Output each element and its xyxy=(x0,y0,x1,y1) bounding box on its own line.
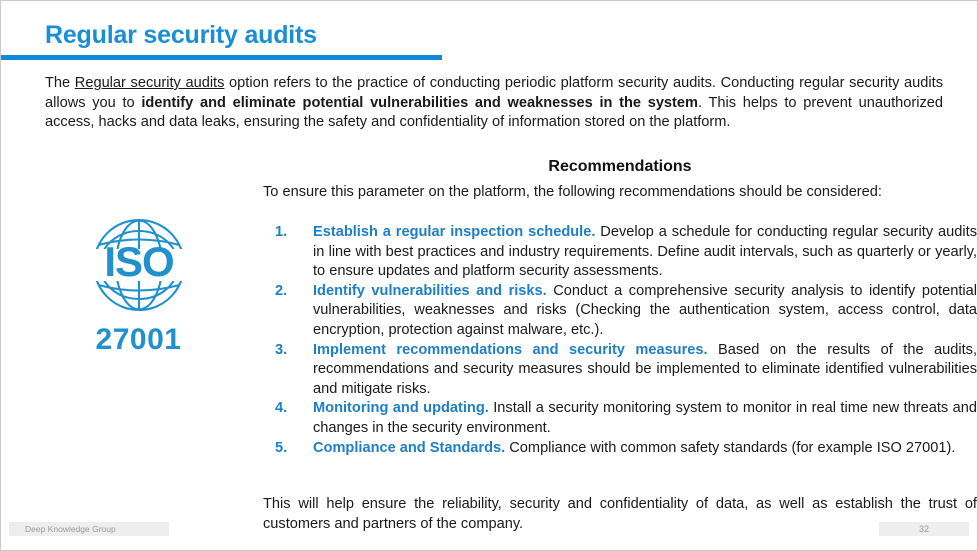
iso-globe-icon: ISO xyxy=(79,213,199,317)
list-item-number: 1. xyxy=(275,223,295,243)
list-item: 2.Identify vulnerabilities and risks. Co… xyxy=(263,282,977,341)
recommendations-intro: To ensure this parameter on the platform… xyxy=(263,183,977,203)
list-item-number: 4. xyxy=(275,399,295,419)
list-item-lead: Implement recommendations and security m… xyxy=(313,342,708,358)
iso-standard-number: 27001 xyxy=(71,323,206,357)
list-item-lead: Compliance and Standards. xyxy=(313,440,505,456)
list-item: 1.Establish a regular inspection schedul… xyxy=(263,223,977,282)
iso-27001-logo: ISO 27001 xyxy=(71,213,206,363)
list-item-lead: Establish a regular inspection schedule. xyxy=(313,224,595,240)
intro-underlined-term: Regular security audits xyxy=(75,75,225,91)
list-item: 5.Compliance and Standards. Compliance w… xyxy=(263,439,977,459)
slide-title-area: Regular security audits xyxy=(1,21,442,61)
intro-lead: The xyxy=(45,75,75,91)
title-underline-rule xyxy=(1,55,442,60)
list-item-number: 2. xyxy=(275,282,295,302)
footer-brand-label: Deep Knowledge Group xyxy=(9,524,116,534)
page-number: 32 xyxy=(919,524,929,534)
list-item: 4.Monitoring and updating. Install a sec… xyxy=(263,399,977,438)
svg-text:ISO: ISO xyxy=(104,238,173,285)
list-item-body: Compliance with common safety standards … xyxy=(505,440,955,456)
recommendations-heading: Recommendations xyxy=(263,158,977,176)
list-item: 3.Implement recommendations and security… xyxy=(263,341,977,400)
recommendations-closing: This will help ensure the reliability, s… xyxy=(263,495,977,534)
intro-bold-phrase: identify and eliminate potential vulnera… xyxy=(141,95,698,111)
intro-paragraph: The Regular security audits option refer… xyxy=(45,74,943,133)
footer-brand-bar: Deep Knowledge Group xyxy=(9,522,169,536)
footer-page-bar: 32 xyxy=(879,522,969,536)
list-item-number: 3. xyxy=(275,341,295,361)
list-item-number: 5. xyxy=(275,439,295,459)
recommendations-list: 1.Establish a regular inspection schedul… xyxy=(263,223,977,458)
list-item-lead: Identify vulnerabilities and risks. xyxy=(313,283,547,299)
page-title: Regular security audits xyxy=(45,21,317,50)
slide-canvas: Regular security audits The Regular secu… xyxy=(0,0,978,551)
list-item-lead: Monitoring and updating. xyxy=(313,400,489,416)
